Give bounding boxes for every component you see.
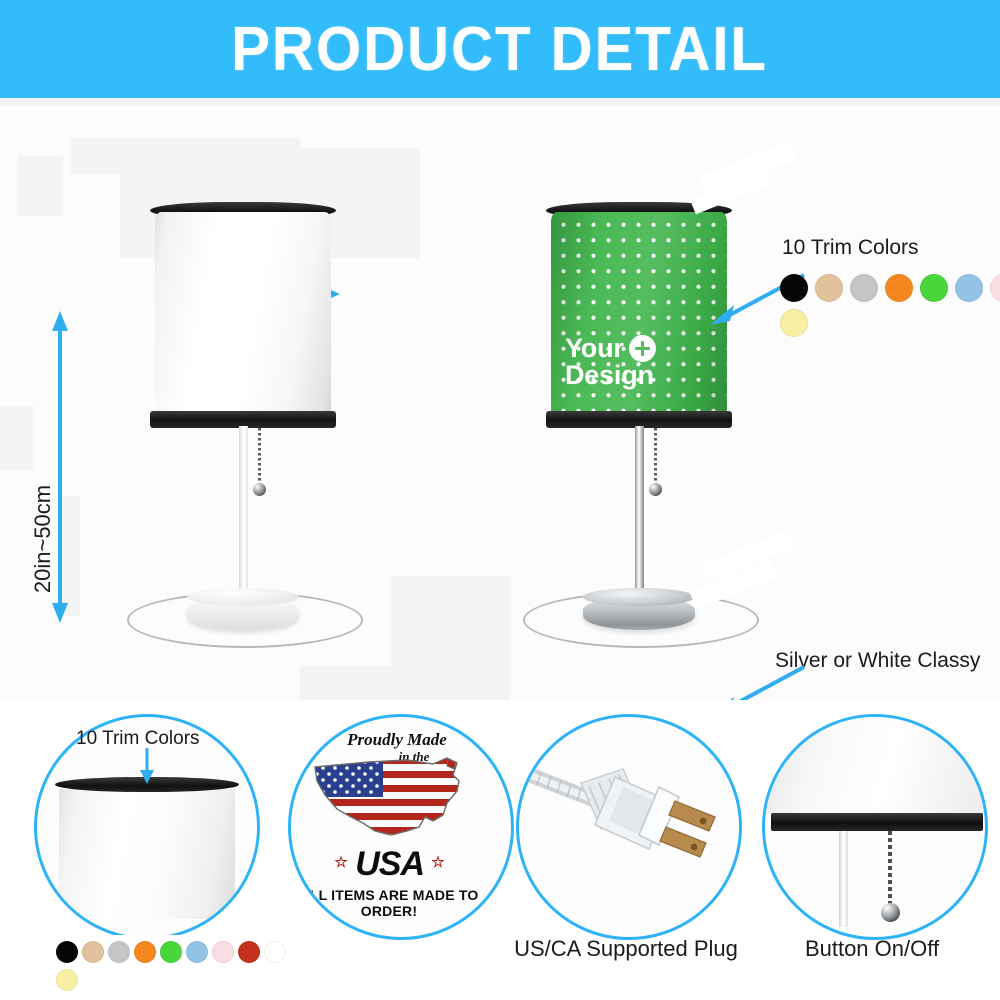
background-patch bbox=[300, 666, 420, 700]
trim-color-swatches-row1[interactable] bbox=[780, 274, 1000, 302]
lamp-silver-pull-ball bbox=[649, 483, 662, 496]
down-arrow-icon bbox=[137, 748, 157, 784]
usa-badge: Proudly Made in the bbox=[291, 717, 511, 937]
power-plug-icon bbox=[519, 717, 739, 937]
trim-swatch-orange[interactable] bbox=[885, 274, 913, 302]
bottom-trim-swatches-row2[interactable] bbox=[56, 969, 82, 991]
lamp-white-pull-ball bbox=[253, 483, 266, 496]
background-patch bbox=[0, 406, 34, 470]
feature-card-made-in-usa: Proudly Made in the bbox=[288, 714, 514, 940]
trim-swatch-black[interactable] bbox=[780, 274, 808, 302]
lamp-white-shade bbox=[155, 212, 331, 427]
pull-chain-icon bbox=[888, 831, 892, 907]
design-placeholder-text-design: Design bbox=[565, 362, 715, 389]
trim-colors-label: 10 Trim Colors bbox=[782, 236, 919, 260]
trim-swatch-orange[interactable] bbox=[134, 941, 156, 963]
usa-map-flag-icon bbox=[307, 751, 475, 843]
main-stage: 7in~18cm 20in~50cm bbox=[0, 106, 1000, 700]
star-right-icon: ☆ bbox=[431, 854, 443, 871]
trim-swatch-green[interactable] bbox=[920, 274, 948, 302]
feature-caption-plug: US/CA Supported Plug bbox=[508, 936, 744, 962]
trim-swatch-tan[interactable] bbox=[82, 941, 104, 963]
feature-row: 10 Trim Colors Proudly Made in the bbox=[0, 700, 1000, 1000]
trim-swatch-pink[interactable] bbox=[990, 274, 1000, 302]
feature-circle-switch bbox=[762, 714, 988, 940]
lamp-silver-base-top bbox=[583, 588, 695, 606]
feature-card-switch: Button On/Off bbox=[762, 714, 988, 976]
pull-chain-ball bbox=[881, 903, 900, 922]
usa-script-top: Proudly Made bbox=[347, 730, 447, 749]
pole-closeup bbox=[839, 831, 848, 927]
lamp-white bbox=[155, 202, 405, 642]
bottom-trim-swatches-row1[interactable] bbox=[56, 941, 290, 963]
feature-card-plug: US/CA Supported Plug bbox=[516, 714, 742, 976]
feature-circle-plug bbox=[516, 714, 742, 940]
design-placeholder-text-your: Your bbox=[565, 335, 624, 362]
trim-swatch-panel bbox=[46, 935, 284, 997]
star-left-icon: ☆ bbox=[334, 854, 346, 871]
trim-color-swatches-row2[interactable] bbox=[780, 309, 808, 337]
trim-swatch-dark-red[interactable] bbox=[238, 941, 260, 963]
trim-swatch-tan[interactable] bbox=[815, 274, 843, 302]
usa-country-text: ☆ USA ☆ bbox=[291, 845, 487, 884]
height-dimension-arrow bbox=[48, 311, 72, 623]
shade-closeup-switch bbox=[765, 717, 988, 814]
design-placeholder-line1: Your bbox=[565, 335, 715, 362]
trim-swatch-light-blue[interactable] bbox=[186, 941, 208, 963]
background-patch bbox=[18, 156, 63, 216]
trim-swatch-white[interactable] bbox=[264, 941, 286, 963]
page-title: PRODUCT DETAIL bbox=[232, 14, 769, 85]
product-detail-page: PRODUCT DETAIL 7in~18cm 20in~50cm bbox=[0, 0, 1000, 1000]
trim-swatch-yellow[interactable] bbox=[56, 969, 78, 991]
lamp-silver-pull-chain bbox=[654, 428, 657, 486]
trim-swatch-gray[interactable] bbox=[108, 941, 130, 963]
trim-swatch-black[interactable] bbox=[56, 941, 78, 963]
usa-word-text: USA bbox=[355, 845, 423, 883]
lamp-white-pull-chain bbox=[258, 428, 261, 486]
header-banner: PRODUCT DETAIL bbox=[0, 0, 1000, 98]
trim-swatch-gray[interactable] bbox=[850, 274, 878, 302]
plus-icon bbox=[629, 335, 656, 362]
feature-caption-switch: Button On/Off bbox=[762, 936, 982, 962]
trim-colors-inner-label: 10 Trim Colors bbox=[76, 728, 200, 750]
trim-swatch-pink[interactable] bbox=[212, 941, 234, 963]
trim-swatch-yellow[interactable] bbox=[780, 309, 808, 337]
trim-swatch-light-blue[interactable] bbox=[955, 274, 983, 302]
trim-swatch-green[interactable] bbox=[160, 941, 182, 963]
usa-tagline: ALL ITEMS ARE MADE TO ORDER! bbox=[291, 887, 487, 919]
feature-card-trim-colors: 10 Trim Colors bbox=[34, 714, 260, 940]
black-trim-closeup-switch bbox=[771, 813, 983, 831]
lamp-white-base-top bbox=[187, 588, 299, 606]
design-placeholder: Your Design bbox=[565, 335, 715, 389]
header-divider bbox=[0, 98, 1000, 106]
shade-closeup bbox=[59, 789, 235, 919]
feature-circle-made-in-usa: Proudly Made in the bbox=[288, 714, 514, 940]
